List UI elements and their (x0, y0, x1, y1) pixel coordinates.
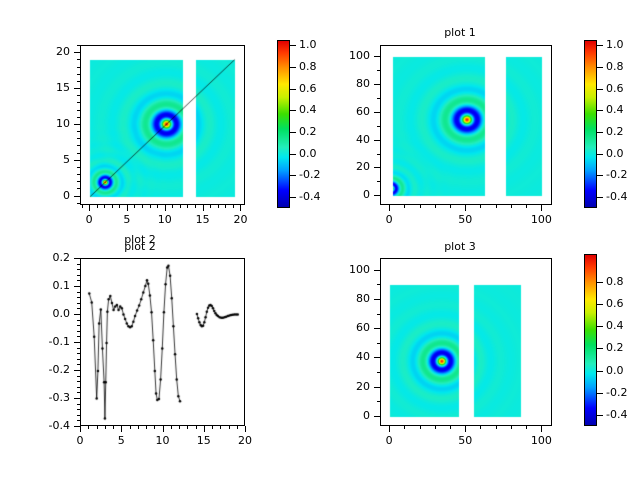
xtick-minor (88, 426, 89, 429)
ytick-minor (377, 284, 380, 285)
ytick-minor (77, 74, 80, 75)
colorbar-tick-label: 0.6 (606, 298, 624, 309)
xtick-minor (154, 426, 155, 429)
ytick-label: -0.4 (28, 420, 70, 431)
ytick-label: 0.1 (28, 280, 70, 291)
xtick-minor (496, 426, 497, 429)
ytick-minor (377, 270, 380, 271)
ytick-minor (377, 112, 380, 113)
colorbar-tick (597, 45, 603, 46)
ytick-minor (77, 52, 80, 53)
ytick-minor (77, 167, 80, 168)
colorbar-tick-label: -0.2 (606, 169, 627, 180)
ytick-minor (77, 153, 80, 154)
xtick-label: 20 (220, 214, 260, 225)
xtick-minor (404, 205, 405, 208)
xtick-minor (237, 426, 238, 429)
ytick-minor (77, 387, 80, 388)
ytick-minor (77, 67, 80, 68)
ytick-minor (377, 195, 380, 196)
xtick-minor (119, 205, 120, 208)
colorbar-tick (290, 132, 296, 133)
xtick-minor (97, 205, 98, 208)
ytick-minor (377, 401, 380, 402)
colorbar-tick-label: 0.8 (299, 61, 317, 72)
xtick-label: 10 (143, 435, 183, 446)
xtick-label: 5 (107, 214, 147, 225)
xtick-label: 5 (101, 435, 141, 446)
ytick-label: 0 (28, 190, 70, 201)
colorbar-tick (290, 89, 296, 90)
colorbar-top-right (584, 40, 597, 208)
colorbar-tick (597, 154, 603, 155)
colorbar-tick (597, 415, 603, 416)
xtick-minor (134, 205, 135, 208)
xtick-minor (163, 426, 164, 429)
xtick-label: 0 (369, 214, 409, 225)
ytick-minor (77, 269, 80, 270)
ytick-label: 80 (328, 293, 370, 304)
colorbar-gradient-top-right (585, 41, 596, 207)
ytick-minor (77, 160, 80, 161)
xtick-minor (89, 205, 90, 208)
figure-canvas: 0510152005101520 plot 2 1.00.80.60.40.20… (0, 0, 640, 480)
ytick-label: 15 (28, 82, 70, 93)
xtick-minor (105, 426, 106, 429)
colorbar-tick (597, 393, 603, 394)
xtick-minor (196, 426, 197, 429)
colorbar-tick-label: 0.2 (606, 342, 624, 353)
ytick-minor (377, 98, 380, 99)
ytick-label: 100 (328, 264, 370, 275)
xtick-label: 15 (183, 214, 223, 225)
xtick-label: 0 (369, 435, 409, 446)
xtick-minor (496, 205, 497, 208)
colorbar-tick-label: 0.4 (299, 104, 317, 115)
ytick-label: -0.1 (28, 336, 70, 347)
xtick-minor (212, 426, 213, 429)
subplot-bottom-right-title: plot 3 (340, 240, 580, 253)
subplot-bottom-left-frame (80, 258, 245, 426)
ytick-label: 0.2 (28, 252, 70, 263)
ytick-minor (77, 336, 80, 337)
xtick-minor (157, 205, 158, 208)
colorbar-tick-label: 1.0 (299, 39, 317, 50)
ytick-minor (377, 154, 380, 155)
subplot-bottom-right: plot 3 020406080100050100 0.80.60.40.20.… (320, 240, 640, 480)
xtick-minor (404, 426, 405, 429)
xtick-minor (142, 205, 143, 208)
ytick-minor (77, 138, 80, 139)
colorbar-tick (597, 67, 603, 68)
xtick-minor (526, 426, 527, 429)
xtick-minor (435, 426, 436, 429)
ytick-label: 0.0 (28, 308, 70, 319)
colorbar-tick-label: 0.6 (606, 83, 624, 94)
ytick-minor (77, 415, 80, 416)
colorbar-tick (597, 326, 603, 327)
colorbar-tick-label: 0.6 (299, 83, 317, 94)
xtick-minor (389, 426, 390, 429)
xtick-minor (204, 426, 205, 429)
colorbar-tick (597, 197, 603, 198)
colorbar-gradient-top-left (278, 41, 289, 207)
xtick-minor (541, 205, 542, 208)
xtick-minor (146, 426, 147, 429)
ytick-minor (377, 167, 380, 168)
heatmap-image-bottom-right (381, 259, 552, 426)
xtick-minor (97, 426, 98, 429)
ytick-minor (77, 303, 80, 304)
xtick-minor (389, 205, 390, 208)
colorbar-tick (290, 175, 296, 176)
xtick-minor (526, 205, 527, 208)
ytick-label: 20 (28, 46, 70, 57)
xtick-minor (450, 426, 451, 429)
line-series-bottom-left (81, 259, 245, 426)
xtick-minor (480, 205, 481, 208)
colorbar-top-left (277, 40, 290, 208)
colorbar-tick-label: -0.4 (299, 191, 320, 202)
subplot-bottom-right-frame (380, 258, 552, 426)
ytick-minor (77, 409, 80, 410)
xtick-minor (480, 426, 481, 429)
ytick-minor (377, 343, 380, 344)
colorbar-tick (597, 282, 603, 283)
xtick-minor (233, 205, 234, 208)
xtick-minor (121, 426, 122, 429)
xtick-minor (541, 426, 542, 429)
ytick-minor (77, 181, 80, 182)
xtick-minor (218, 205, 219, 208)
xtick-minor (172, 205, 173, 208)
ytick-minor (77, 404, 80, 405)
ytick-minor (377, 416, 380, 417)
ytick-minor (77, 381, 80, 382)
xtick-minor (210, 205, 211, 208)
subplot-top-left: 0510152005101520 plot 2 1.00.80.60.40.20… (0, 0, 320, 240)
ytick-label: 0 (328, 410, 370, 421)
ytick-minor (77, 370, 80, 371)
colorbar-tick-label: 0.0 (606, 365, 624, 376)
ytick-label: 40 (328, 134, 370, 145)
xtick-minor (245, 426, 246, 429)
xtick-minor (180, 205, 181, 208)
xtick-label: 100 (521, 214, 561, 225)
ytick-minor (77, 364, 80, 365)
xtick-label: 0 (69, 214, 109, 225)
colorbar-tick-label: -0.4 (606, 191, 627, 202)
colorbar-tick (597, 132, 603, 133)
colorbar-tick (290, 67, 296, 68)
colorbar-tick-label: 0.2 (299, 126, 317, 137)
xtick-minor (465, 205, 466, 208)
ytick-minor (77, 145, 80, 146)
ytick-minor (377, 299, 380, 300)
ytick-minor (77, 88, 80, 89)
colorbar-tick (597, 304, 603, 305)
ytick-minor (377, 372, 380, 373)
ytick-label: 80 (328, 78, 370, 89)
ytick-minor (377, 314, 380, 315)
xtick-minor (138, 426, 139, 429)
colorbar-bottom-right (584, 254, 597, 426)
colorbar-tick-label: 0.8 (606, 61, 624, 72)
xtick-label: 20 (225, 435, 265, 446)
ytick-label: 40 (328, 351, 370, 362)
ytick-minor (77, 314, 80, 315)
ytick-label: -0.2 (28, 364, 70, 375)
colorbar-tick (597, 89, 603, 90)
ytick-minor (377, 387, 380, 388)
ytick-label: 10 (28, 118, 70, 129)
xtick-minor (229, 426, 230, 429)
xtick-label: 10 (145, 214, 185, 225)
ytick-minor (377, 357, 380, 358)
colorbar-gradient-bottom-right (585, 255, 596, 425)
xtick-minor (225, 205, 226, 208)
xtick-minor (435, 205, 436, 208)
ytick-minor (77, 117, 80, 118)
ytick-minor (77, 45, 80, 46)
xtick-label: 50 (445, 435, 485, 446)
ytick-label: 5 (28, 154, 70, 165)
ytick-minor (77, 174, 80, 175)
ytick-label: -0.3 (28, 392, 70, 403)
xtick-minor (511, 205, 512, 208)
ytick-minor (77, 426, 80, 427)
xtick-minor (113, 426, 114, 429)
xtick-minor (450, 205, 451, 208)
colorbar-tick (597, 110, 603, 111)
ytick-minor (377, 181, 380, 182)
colorbar-tick-label: -0.2 (299, 169, 320, 180)
colorbar-tick-label: 1.0 (606, 39, 624, 50)
ytick-minor (377, 126, 380, 127)
ytick-minor (77, 258, 80, 259)
ytick-label: 0 (328, 189, 370, 200)
xtick-label: 0 (60, 435, 100, 446)
ytick-label: 100 (328, 50, 370, 61)
ytick-minor (77, 196, 80, 197)
xtick-minor (511, 426, 512, 429)
ytick-minor (77, 353, 80, 354)
xtick-minor (112, 205, 113, 208)
colorbar-tick-label: 0.0 (299, 148, 317, 159)
ytick-minor (77, 359, 80, 360)
ytick-minor (77, 203, 80, 204)
xtick-minor (179, 426, 180, 429)
ytick-minor (77, 376, 80, 377)
ytick-minor (77, 342, 80, 343)
colorbar-tick (290, 110, 296, 111)
xtick-minor (171, 426, 172, 429)
ytick-minor (77, 102, 80, 103)
xtick-minor (203, 205, 204, 208)
ytick-minor (77, 331, 80, 332)
colorbar-tick (290, 45, 296, 46)
ytick-minor (77, 348, 80, 349)
xtick-minor (420, 205, 421, 208)
xtick-minor (80, 426, 81, 429)
ytick-label: 60 (328, 322, 370, 333)
colorbar-tick-label: 0.0 (606, 148, 624, 159)
ytick-label: 20 (328, 381, 370, 392)
ytick-label: 20 (328, 161, 370, 172)
subplot-bottom-left: plot 2 0.20.10.0-0.1-0.2-0.3-0.405101520 (0, 240, 320, 480)
xtick-label: 50 (445, 214, 485, 225)
colorbar-tick-label: -0.2 (606, 387, 627, 398)
xtick-minor (104, 205, 105, 208)
ytick-minor (77, 420, 80, 421)
heatmap-image-top-right (381, 46, 552, 205)
ytick-minor (77, 280, 80, 281)
ytick-minor (377, 140, 380, 141)
xtick-minor (187, 426, 188, 429)
subplot-top-right-title: plot 1 (340, 26, 580, 39)
ytick-minor (77, 392, 80, 393)
xtick-minor (465, 426, 466, 429)
colorbar-tick-label: 0.2 (606, 126, 624, 137)
colorbar-tick (597, 371, 603, 372)
xtick-minor (240, 205, 241, 208)
colorbar-tick (290, 197, 296, 198)
ytick-minor (77, 275, 80, 276)
ytick-minor (77, 292, 80, 293)
ytick-minor (377, 84, 380, 85)
xtick-label: 15 (184, 435, 224, 446)
ytick-minor (77, 320, 80, 321)
ytick-minor (77, 124, 80, 125)
xtick-minor (420, 426, 421, 429)
xtick-minor (150, 205, 151, 208)
heatmap-image-top-left (81, 46, 245, 205)
xtick-minor (187, 205, 188, 208)
xtick-minor (127, 205, 128, 208)
xtick-minor (220, 426, 221, 429)
xtick-minor (130, 426, 131, 429)
subplot-top-right: plot 1 020406080100050100 1.00.80.60.40.… (320, 0, 640, 240)
colorbar-tick (597, 175, 603, 176)
xtick-minor (82, 205, 83, 208)
colorbar-tick (597, 348, 603, 349)
ytick-minor (77, 131, 80, 132)
colorbar-tick-label: -0.4 (606, 409, 627, 420)
ytick-minor (77, 308, 80, 309)
ytick-minor (377, 56, 380, 57)
xtick-label: 100 (521, 435, 561, 446)
subplot-top-left-frame (80, 45, 245, 205)
ytick-minor (77, 110, 80, 111)
xtick-minor (165, 205, 166, 208)
ytick-minor (77, 95, 80, 96)
ytick-label: 60 (328, 106, 370, 117)
colorbar-tick (290, 154, 296, 155)
ytick-minor (77, 81, 80, 82)
ytick-minor (77, 264, 80, 265)
ytick-minor (77, 59, 80, 60)
colorbar-tick-label: 0.8 (606, 276, 624, 287)
ytick-minor (77, 325, 80, 326)
ytick-minor (77, 188, 80, 189)
subplot-top-right-frame (380, 45, 552, 205)
colorbar-tick-label: 0.4 (606, 104, 624, 115)
ytick-minor (77, 398, 80, 399)
ytick-minor (77, 297, 80, 298)
xtick-minor (195, 205, 196, 208)
ytick-minor (377, 328, 380, 329)
ytick-minor (377, 70, 380, 71)
ytick-minor (77, 286, 80, 287)
colorbar-tick-label: 0.4 (606, 320, 624, 331)
